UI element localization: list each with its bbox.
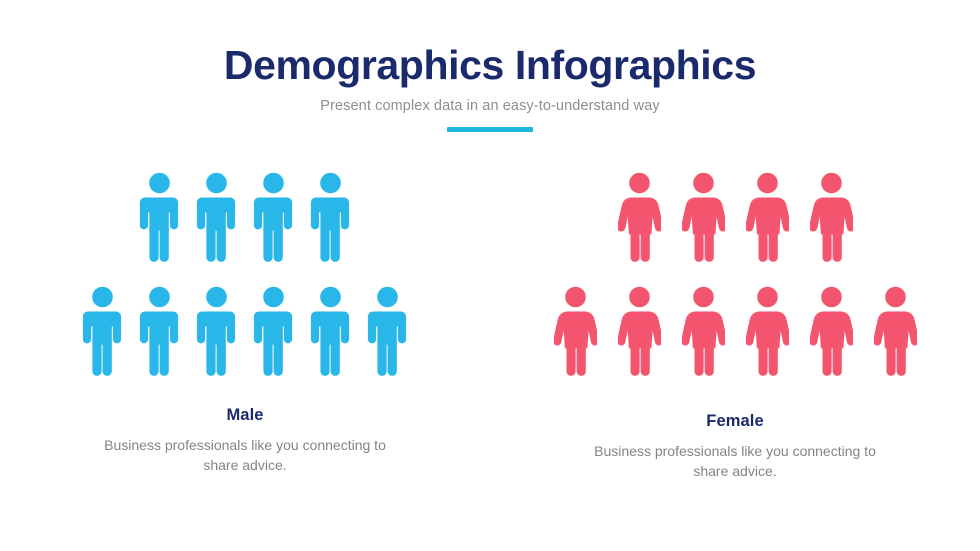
male-person-icon xyxy=(310,172,351,262)
male-caption: Male Business professionals like you con… xyxy=(95,406,395,476)
male-icon-row-1 xyxy=(139,172,351,262)
female-person-icon xyxy=(554,286,597,376)
male-icon-row-2 xyxy=(82,286,408,376)
column-female: Female Business professionals like you c… xyxy=(490,172,980,482)
female-person-icon xyxy=(682,172,725,262)
header: Demographics Infographics Present comple… xyxy=(0,44,980,132)
male-person-icon xyxy=(253,286,294,376)
female-icon-row-2 xyxy=(554,286,917,376)
female-caption: Female Business professionals like you c… xyxy=(580,412,890,482)
male-person-icon xyxy=(196,286,237,376)
female-person-icon xyxy=(618,172,661,262)
female-person-icon xyxy=(810,286,853,376)
male-pictogram-group xyxy=(82,172,408,376)
female-person-icon xyxy=(746,286,789,376)
page-title: Demographics Infographics xyxy=(0,44,980,87)
column-male: Male Business professionals like you con… xyxy=(0,172,490,482)
female-person-icon xyxy=(746,172,789,262)
demographics-columns: Male Business professionals like you con… xyxy=(0,172,980,482)
female-description: Business professionals like you connecti… xyxy=(580,442,890,482)
female-person-icon xyxy=(874,286,917,376)
title-divider-wrap xyxy=(0,127,980,132)
female-label: Female xyxy=(580,412,890,431)
male-person-icon xyxy=(82,286,123,376)
female-pictogram-group xyxy=(554,172,917,376)
infographic-slide: Demographics Infographics Present comple… xyxy=(0,0,980,551)
male-person-icon xyxy=(310,286,351,376)
title-divider xyxy=(447,127,533,132)
male-person-icon xyxy=(139,286,180,376)
male-description: Business professionals like you connecti… xyxy=(95,436,395,476)
female-icon-row-1 xyxy=(618,172,853,262)
male-person-icon xyxy=(139,172,180,262)
female-person-icon xyxy=(810,172,853,262)
male-person-icon xyxy=(367,286,408,376)
female-person-icon xyxy=(618,286,661,376)
male-person-icon xyxy=(196,172,237,262)
male-label: Male xyxy=(95,406,395,425)
page-subtitle: Present complex data in an easy-to-under… xyxy=(0,98,980,114)
female-person-icon xyxy=(682,286,725,376)
male-person-icon xyxy=(253,172,294,262)
